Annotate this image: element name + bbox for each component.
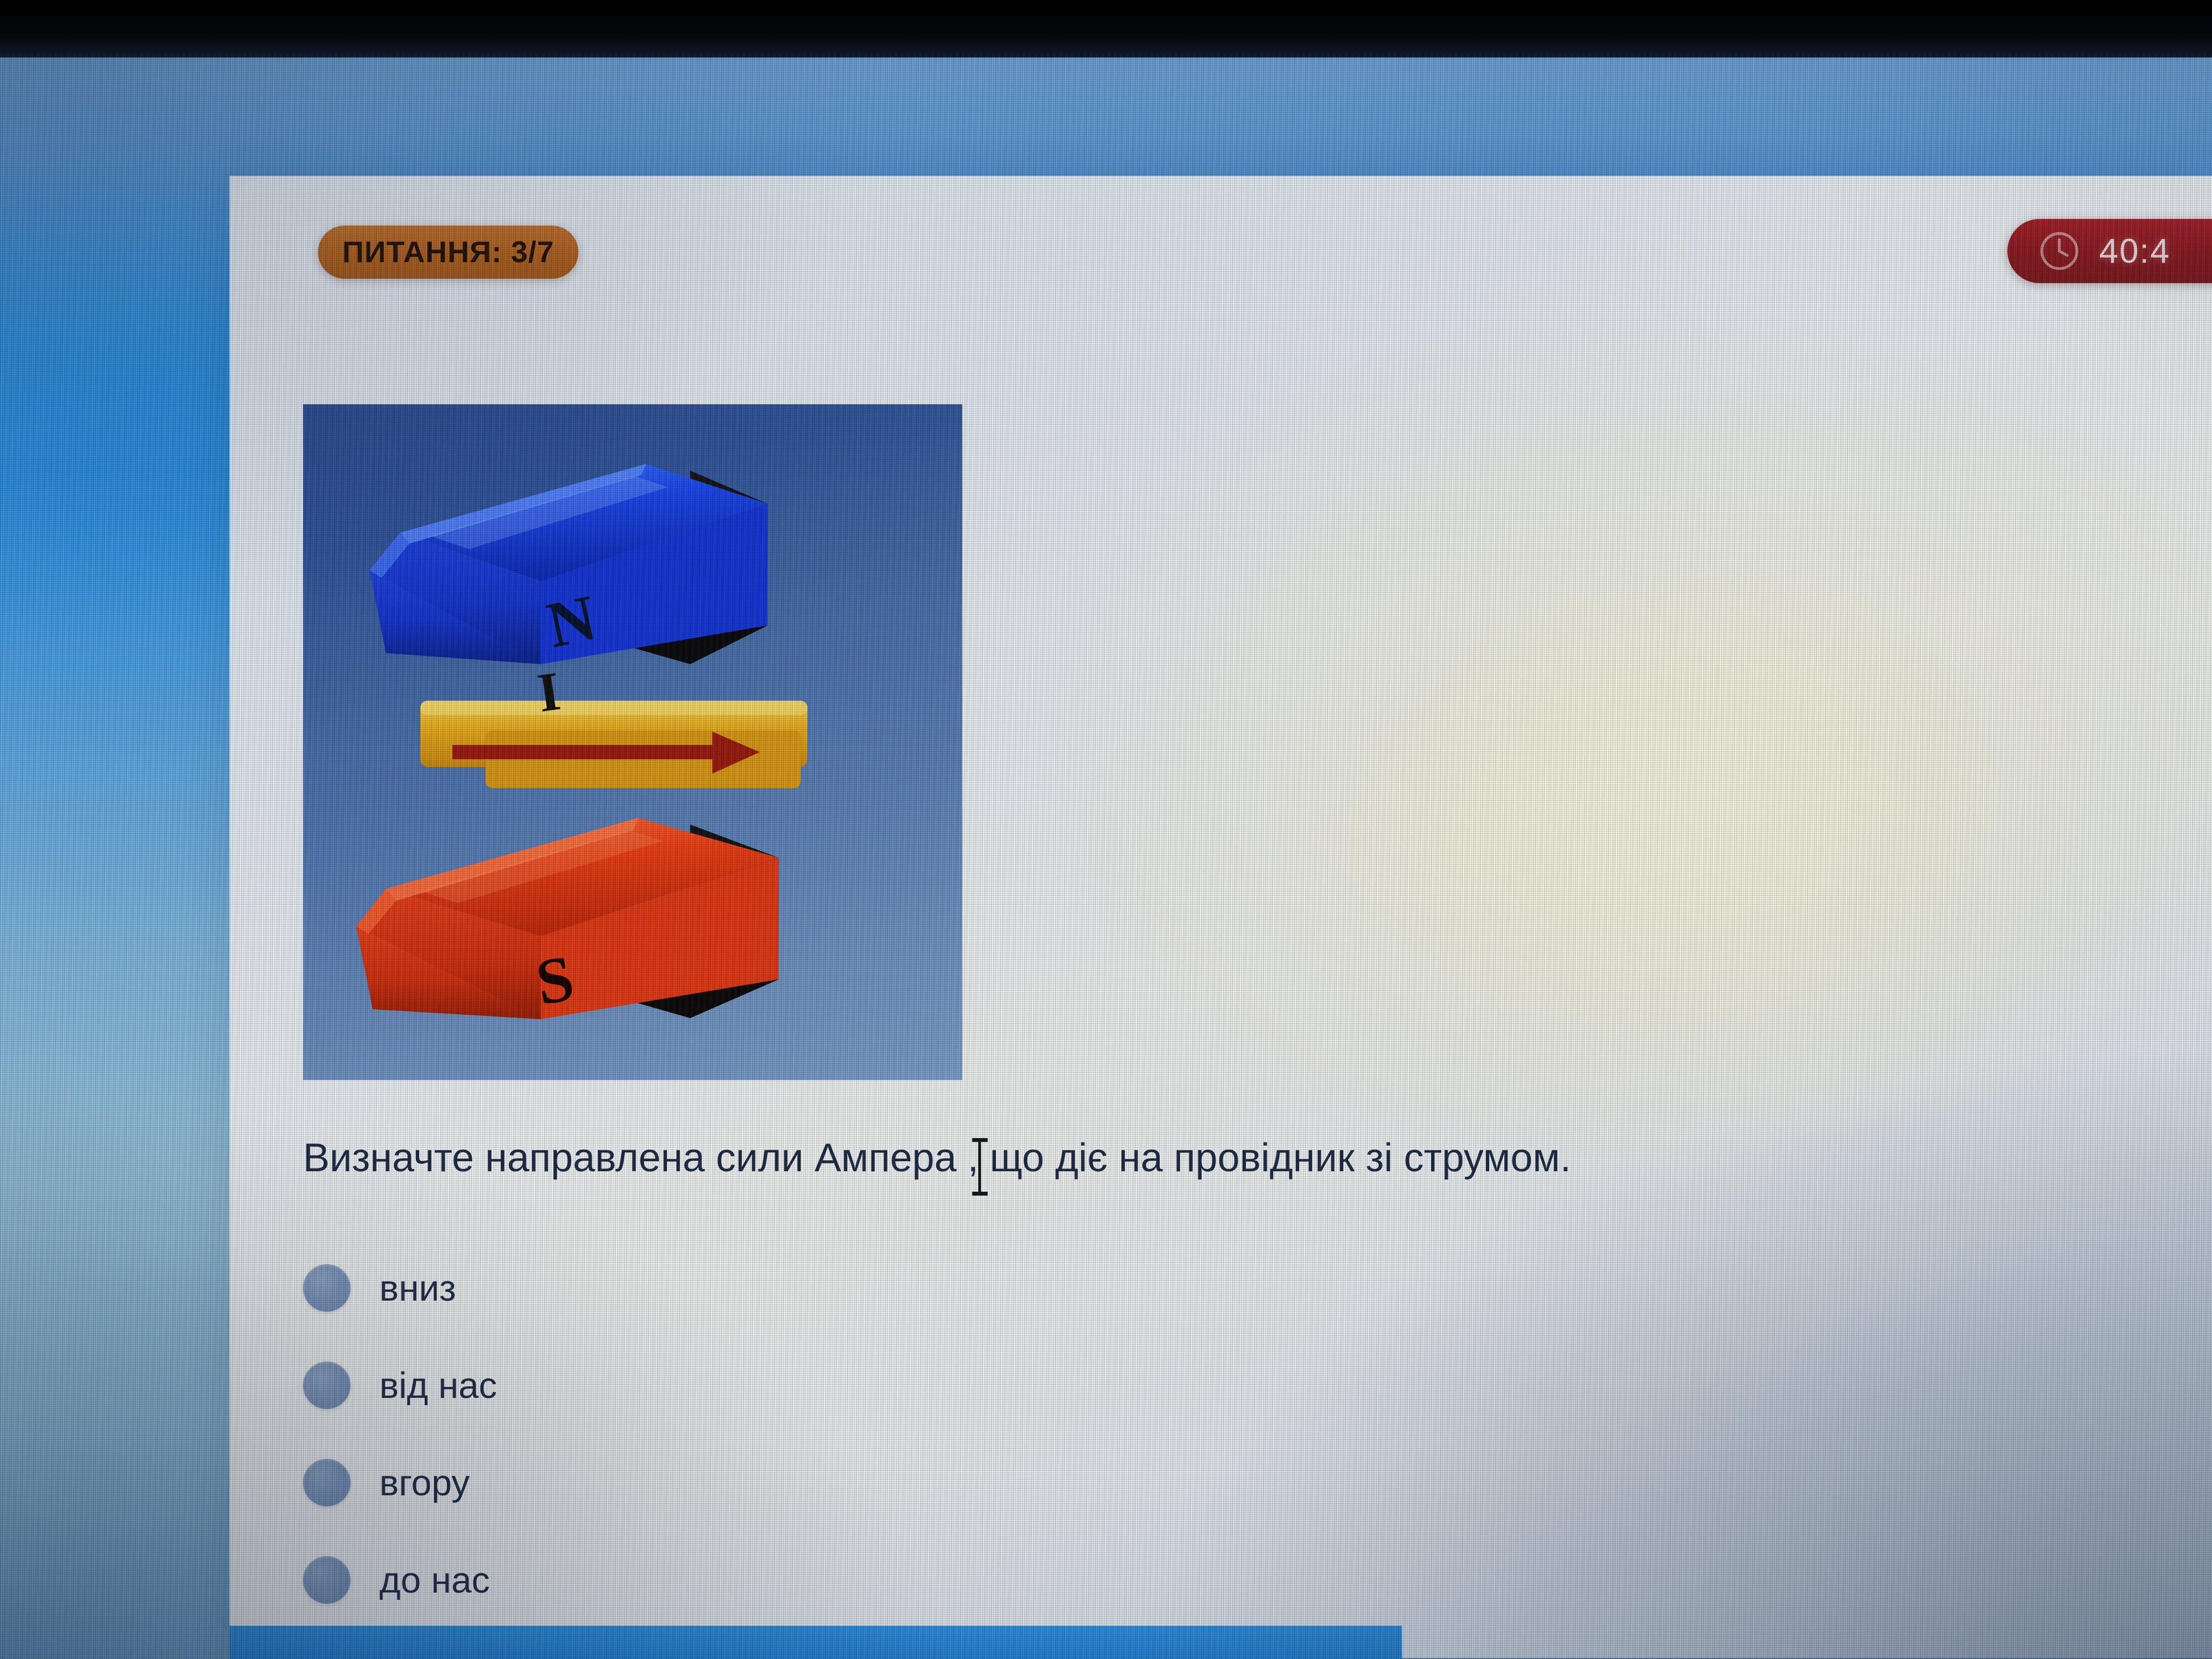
timer-value: 40:4 — [2099, 232, 2171, 271]
countdown-timer: 40:4 — [2007, 219, 2212, 283]
screen-glare — [1059, 331, 2212, 1160]
option-row-vhoru[interactable]: вгору — [303, 1434, 1188, 1531]
option-label-vhoru: вгору — [379, 1462, 469, 1504]
question-illustration: N I — [303, 404, 962, 1080]
radio-button-vid-nas[interactable] — [303, 1361, 351, 1409]
magnet-conductor-diagram: N I — [303, 404, 962, 1080]
question-counter-badge: ПИТАННЯ: 3/7 — [318, 226, 578, 279]
radio-button-do-nas[interactable] — [303, 1556, 351, 1604]
current-conductor — [420, 701, 807, 788]
clock-icon — [2038, 230, 2080, 272]
option-row-vid-nas[interactable]: від нас — [303, 1337, 1188, 1434]
option-label-vid-nas: від нас — [379, 1364, 497, 1406]
screen-area: ПИТАННЯ: 3/7 40:4 — [0, 53, 2212, 1659]
bottom-accent-band — [229, 1626, 1402, 1659]
screen-glare — [1308, 596, 2054, 1121]
monitor-photo: ПИТАННЯ: 3/7 40:4 — [0, 0, 2212, 1659]
option-row-do-nas[interactable]: до нас — [303, 1531, 1188, 1629]
question-text: Визначте направлена сили Ампера , що діє… — [303, 1134, 1962, 1183]
option-label-vniz: вниз — [379, 1267, 456, 1309]
monitor-bezel — [0, 0, 2212, 58]
radio-button-vhoru[interactable] — [303, 1459, 351, 1506]
option-label-do-nas: до нас — [379, 1559, 490, 1601]
answer-options[interactable]: вниз від нас вгору до нас — [303, 1239, 1188, 1629]
radio-button-vniz[interactable] — [303, 1264, 351, 1312]
option-row-vniz[interactable]: вниз — [303, 1239, 1188, 1337]
